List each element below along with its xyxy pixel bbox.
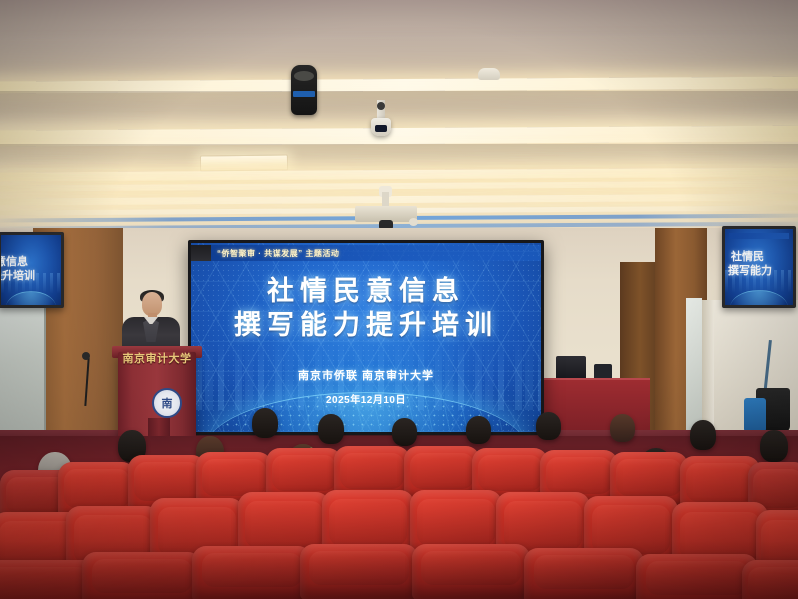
screen-date: 2025年12月10日 xyxy=(191,391,541,406)
auditorium-seat xyxy=(192,546,312,599)
audience-member-head xyxy=(318,414,344,444)
frosted-glass-door-left xyxy=(0,292,46,440)
smoke-detector-icon xyxy=(478,68,500,80)
auditorium-seat xyxy=(742,560,798,599)
audience-member-head xyxy=(610,414,635,442)
stage-light-icon xyxy=(291,65,317,115)
ceiling-tint xyxy=(0,0,798,38)
audience-member-head xyxy=(690,420,716,450)
auditorium-photo: 意信息 提升培训 社情民 撰写能力 “侨智聚审 · 共谋发展” 主题活动 社情民… xyxy=(0,0,798,599)
recessed-panel-light xyxy=(200,155,288,172)
screen-banner-text: “侨智聚审 · 共谋发展” 主题活动 xyxy=(217,248,339,259)
emblem-glyph: 南 xyxy=(162,395,173,411)
ceiling-shadow xyxy=(0,144,798,170)
screen-title-line2: 撰写能力提升培训 xyxy=(191,309,541,343)
auditorium-seat xyxy=(524,548,644,599)
monitor-right-title-line2: 撰写能力 xyxy=(728,262,772,278)
audience-member-head xyxy=(252,408,278,438)
speaker-presenter xyxy=(120,292,182,354)
blue-bucket xyxy=(744,398,766,432)
av-equipment xyxy=(556,356,586,380)
microphone-icon xyxy=(82,352,90,360)
auditorium-seat xyxy=(412,544,530,599)
audience-member-head xyxy=(392,418,417,446)
ptz-camera-icon xyxy=(371,100,391,140)
monitor-right-banner xyxy=(729,233,789,239)
ceiling-light-strip xyxy=(0,180,798,191)
auditorium-seat xyxy=(300,544,418,599)
stair-rail xyxy=(702,300,714,440)
audience-member-head xyxy=(760,430,788,462)
banner-bracket xyxy=(191,245,211,261)
monitor-left-title-line2: 提升培训 xyxy=(1,267,35,283)
university-emblem-icon: 南 xyxy=(152,388,182,418)
main-presentation-screen: “侨智聚审 · 共谋发展” 主题活动 社情民意信息 撰写能力提升培训 南京市侨联… xyxy=(188,240,544,435)
audience-member-head xyxy=(466,416,491,444)
auditorium-seat xyxy=(82,552,202,599)
podium-nameplate: 南京审计大学 xyxy=(118,350,196,366)
ceiling-shadow xyxy=(0,91,798,125)
ceiling xyxy=(0,0,798,232)
side-monitor-left: 意信息 提升培训 xyxy=(0,232,64,308)
screen-organizers: 南京市侨联 南京审计大学 xyxy=(191,367,541,383)
frosted-glass-door-right xyxy=(686,298,702,440)
screen-title-line1: 社情民意信息 xyxy=(191,275,541,309)
audience-member-head xyxy=(536,412,561,440)
auditorium-seat xyxy=(636,554,758,599)
ceiling-projector-icon xyxy=(355,198,417,226)
screen-theme-banner: “侨智聚审 · 共谋发展” 主题活动 xyxy=(191,245,541,261)
screen-title: 社情民意信息 撰写能力提升培训 xyxy=(191,275,541,343)
side-monitor-right: 社情民 撰写能力 xyxy=(722,226,796,308)
